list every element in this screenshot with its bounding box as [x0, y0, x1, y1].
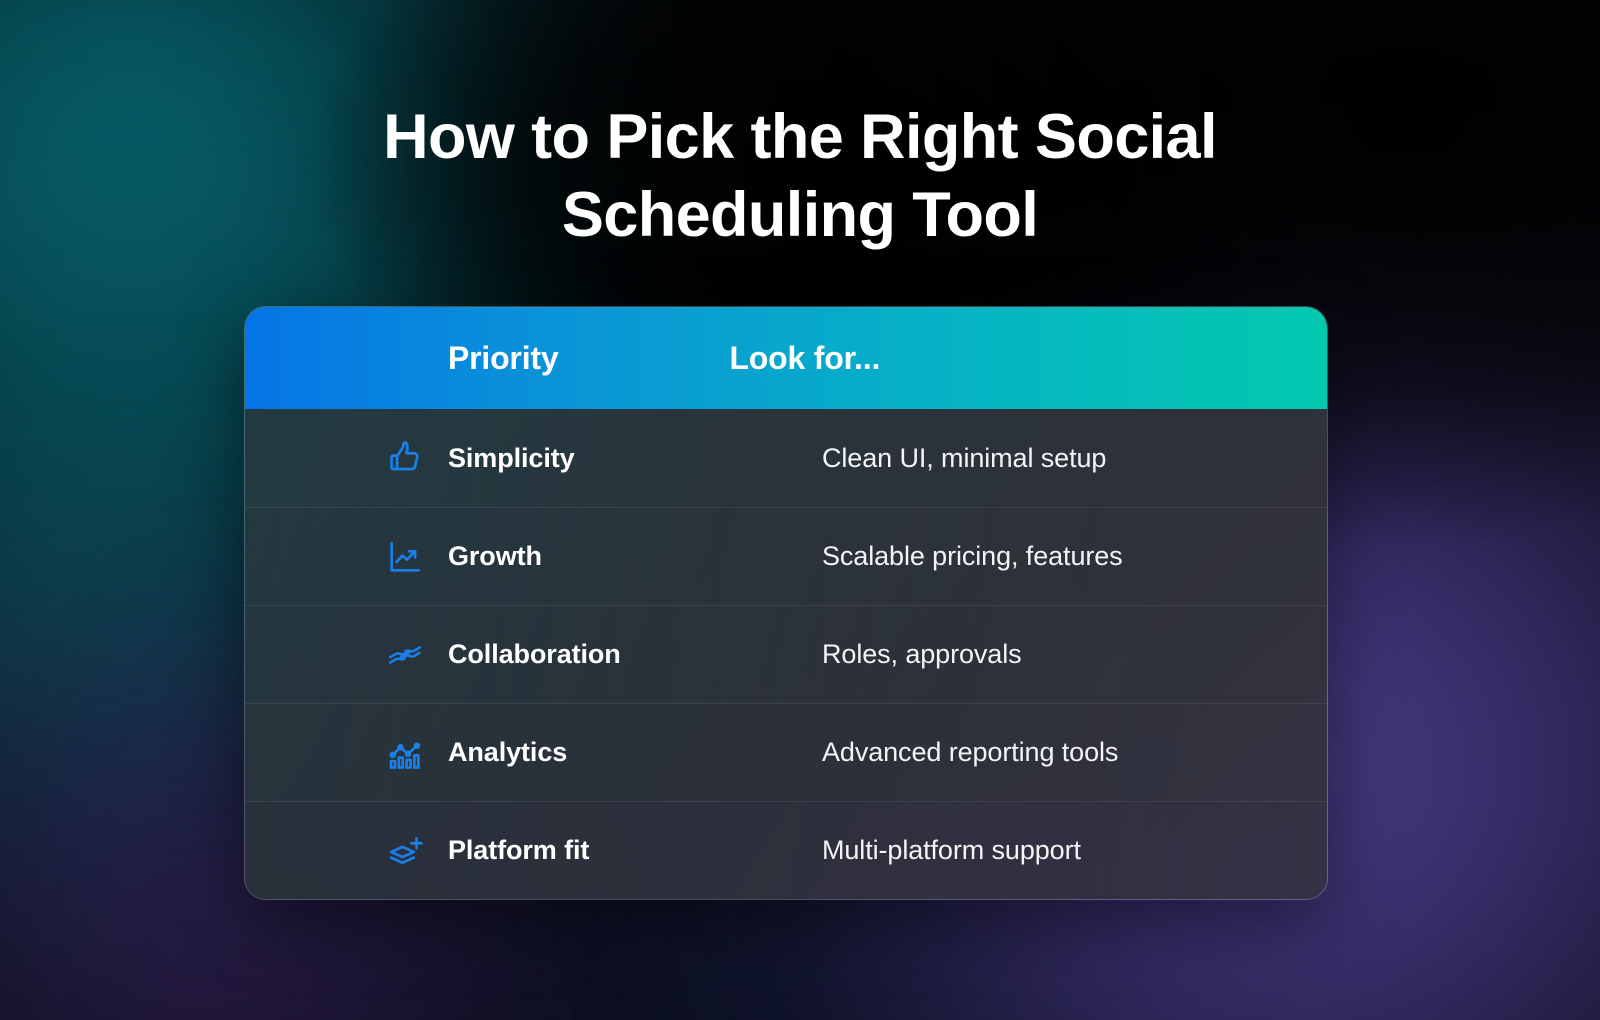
growth-chart-icon	[386, 538, 424, 576]
row-lookfor-value: Roles, approvals	[822, 639, 1327, 670]
table-row: Growth Scalable pricing, features	[245, 507, 1327, 605]
column-header-priority: Priority	[448, 340, 558, 377]
row-priority-label: Platform fit	[448, 835, 619, 866]
priority-table-card: Priority Look for... Simplicity Clean UI…	[244, 306, 1328, 900]
row-icon-cell	[245, 636, 448, 674]
handshake-icon	[386, 636, 424, 674]
table-row: Platform fit Multi-platform support	[245, 801, 1327, 899]
row-icon-cell	[245, 832, 448, 870]
layers-plus-icon	[386, 832, 424, 870]
table-row: Analytics Advanced reporting tools	[245, 703, 1327, 801]
row-icon-cell	[245, 734, 448, 772]
table-header-row: Priority Look for...	[245, 307, 1327, 409]
page-title: How to Pick the Right Social Scheduling …	[0, 98, 1600, 254]
thumbs-up-icon	[386, 439, 424, 477]
row-lookfor-value: Advanced reporting tools	[822, 737, 1327, 768]
table-row: Simplicity Clean UI, minimal setup	[245, 409, 1327, 507]
row-lookfor-value: Multi-platform support	[822, 835, 1327, 866]
row-priority-label: Simplicity	[448, 443, 619, 474]
table-row: Collaboration Roles, approvals	[245, 605, 1327, 703]
row-icon-cell	[245, 439, 448, 477]
row-lookfor-value: Clean UI, minimal setup	[822, 443, 1327, 474]
row-priority-label: Growth	[448, 541, 619, 572]
row-lookfor-value: Scalable pricing, features	[822, 541, 1327, 572]
analytics-bar-icon	[386, 734, 424, 772]
table-body: Simplicity Clean UI, minimal setup Growt…	[245, 409, 1327, 899]
content-stage: How to Pick the Right Social Scheduling …	[0, 0, 1600, 1020]
row-icon-cell	[245, 538, 448, 576]
row-priority-label: Collaboration	[448, 639, 619, 670]
row-priority-label: Analytics	[448, 737, 619, 768]
column-header-lookfor: Look for...	[729, 340, 880, 377]
